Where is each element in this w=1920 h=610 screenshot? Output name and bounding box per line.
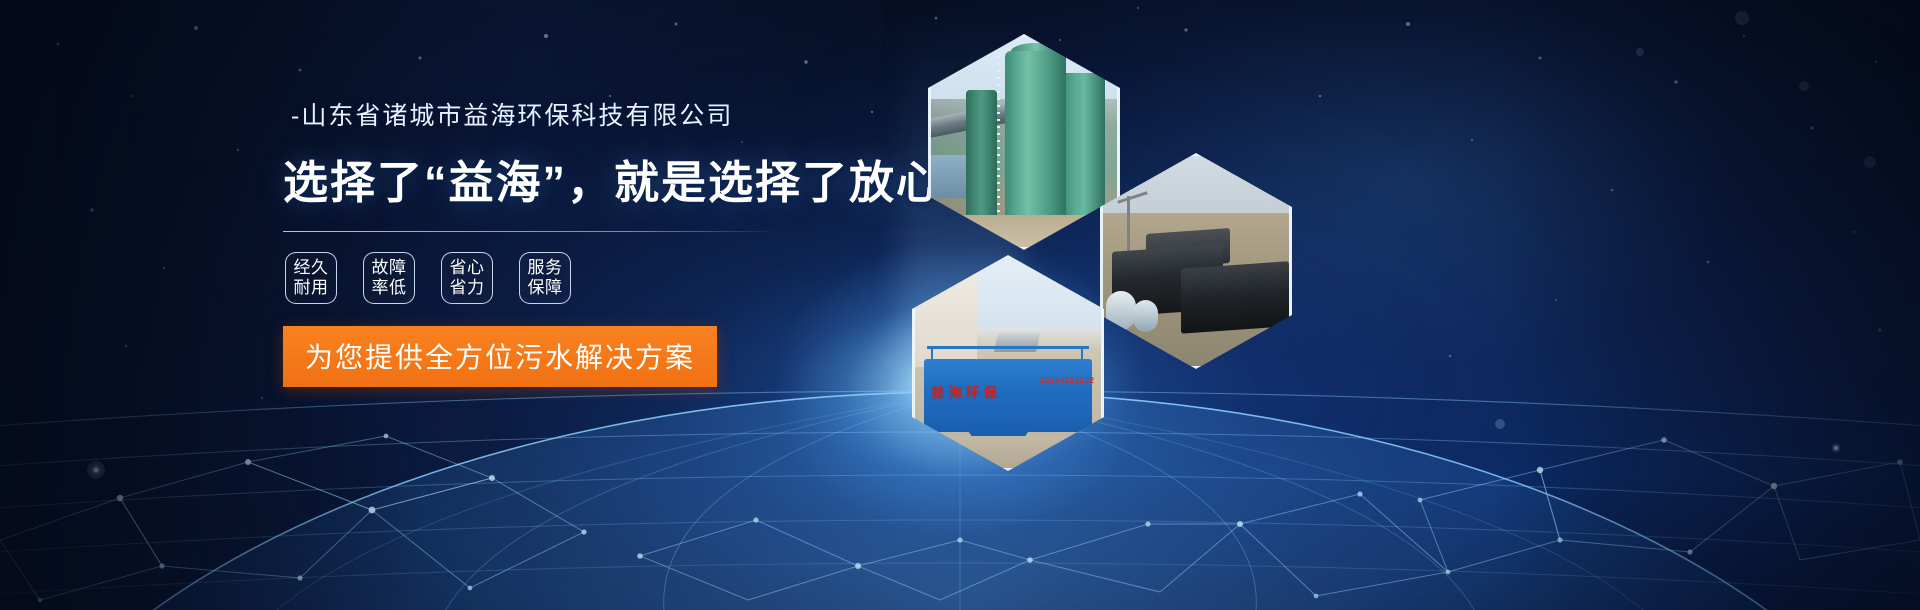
badge-line-2: 率低 bbox=[372, 278, 407, 298]
promo-banner: -山东省诸城市益海环保科技有限公司 选择了“益海”，就是选择了放心 经久 耐用 … bbox=[0, 0, 1920, 610]
page-title: 选择了“益海”，就是选择了放心 bbox=[283, 146, 903, 211]
feature-badge-list: 经久 耐用 故障 率低 省心 省力 服务 保障 bbox=[285, 252, 903, 304]
cta-button[interactable]: 为您提供全方位污水解决方案 bbox=[283, 326, 717, 387]
badge-line-1: 省心 bbox=[450, 258, 485, 278]
company-name-eyebrow: -山东省诸城市益海环保科技有限公司 bbox=[291, 96, 903, 132]
badge-line-1: 服务 bbox=[528, 258, 563, 278]
badge-line-2: 省力 bbox=[450, 278, 485, 298]
feature-badge-durable[interactable]: 经久 耐用 bbox=[285, 252, 337, 304]
badge-line-2: 耐用 bbox=[294, 278, 329, 298]
title-divider bbox=[283, 231, 778, 232]
badge-line-1: 经久 bbox=[294, 258, 329, 278]
badge-line-1: 故障 bbox=[372, 258, 407, 278]
feature-badge-service[interactable]: 服务 保障 bbox=[519, 252, 571, 304]
headline-block: -山东省诸城市益海环保科技有限公司 选择了“益海”，就是选择了放心 经久 耐用 … bbox=[283, 96, 903, 387]
feature-badge-low-failure[interactable]: 故障 率低 bbox=[363, 252, 415, 304]
badge-line-2: 保障 bbox=[528, 278, 563, 298]
feature-badge-effortless[interactable]: 省心 省力 bbox=[441, 252, 493, 304]
